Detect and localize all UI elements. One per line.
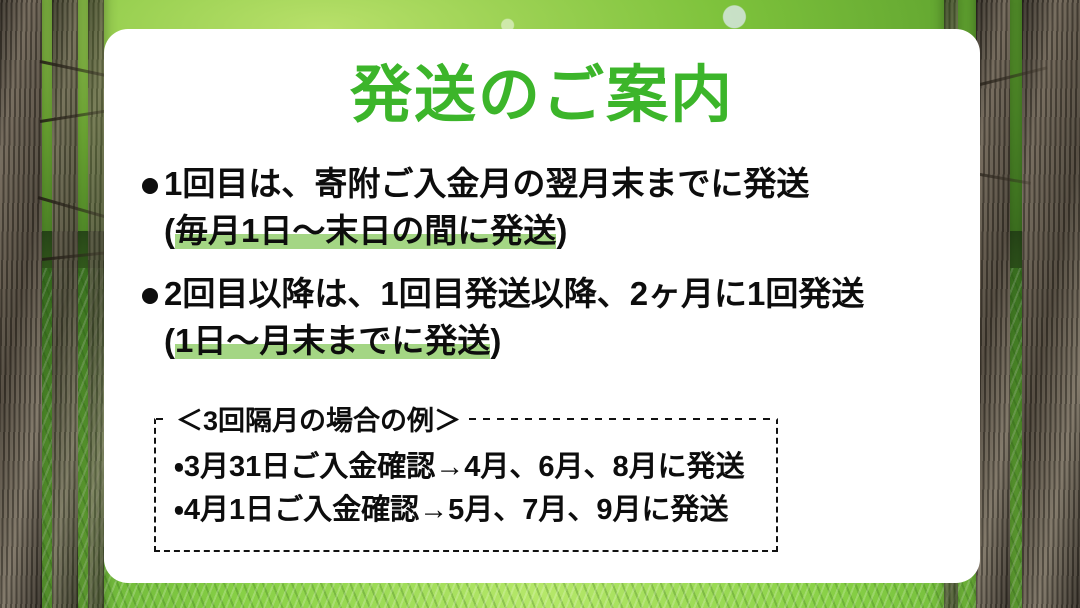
paren-open: (	[164, 322, 175, 359]
bullet-list: 1回目は、寄附ご入金月の翌月末までに発送 (毎月1日～末日の間に発送) 2回目以…	[142, 163, 960, 383]
example-box-heading: ＜3回隔月の場合の例＞	[168, 399, 469, 438]
example-line: ・3月31日ご入金確認→4月、6月、8月に発送	[174, 446, 776, 489]
bullet-secondary-line: (毎月1日～末日の間に発送)	[164, 210, 960, 253]
bullet-primary-line: 1回目は、寄附ご入金月の翌月末までに発送	[142, 163, 960, 206]
bullet-secondary-line: (1日～月末までに発送)	[164, 320, 960, 363]
tree-trunk	[976, 0, 1010, 608]
filled-circle-bullet-icon	[142, 288, 158, 304]
bullet-item: 2回目以降は、1回目発送以降、2ヶ月に1回発送 (1日～月末までに発送)	[142, 273, 960, 363]
bullet-primary-line: 2回目以降は、1回目発送以降、2ヶ月に1回発送	[142, 273, 960, 316]
example-line: ・4月1日ご入金確認→5月、7月、9月に発送	[174, 489, 776, 532]
paren-close: )	[556, 212, 567, 249]
filled-circle-bullet-icon	[142, 178, 158, 194]
page-title: 発送のご案内	[104, 63, 980, 128]
bullet-text: 2回目以降は、1回目発送以降、2ヶ月に1回発送	[164, 273, 864, 316]
bullet-text: 1回目は、寄附ご入金月の翌月末までに発送	[164, 163, 809, 206]
highlighted-text: 毎月1日～末日の間に発送	[175, 212, 556, 249]
content-card: 発送のご案内 1回目は、寄附ご入金月の翌月末までに発送 (毎月1日～末日の間に発…	[104, 29, 980, 583]
paren-open: (	[164, 212, 175, 249]
tree-trunk	[88, 0, 104, 608]
paren-close: )	[490, 322, 501, 359]
example-box: ＜3回隔月の場合の例＞ ・3月31日ご入金確認→4月、6月、8月に発送 ・4月1…	[154, 418, 778, 552]
dash-segment-left	[156, 418, 168, 420]
slide-root: 発送のご案内 1回目は、寄附ご入金月の翌月末までに発送 (毎月1日～末日の間に発…	[0, 0, 1080, 608]
example-box-top-border: ＜3回隔月の場合の例＞	[156, 418, 776, 420]
dash-segment-right	[469, 418, 776, 420]
tree-trunk	[1022, 0, 1080, 608]
bullet-item: 1回目は、寄附ご入金月の翌月末までに発送 (毎月1日～末日の間に発送)	[142, 163, 960, 253]
highlighted-text: 1日～月末までに発送	[175, 322, 490, 359]
tree-trunk	[52, 0, 78, 608]
tree-trunk	[0, 0, 42, 608]
